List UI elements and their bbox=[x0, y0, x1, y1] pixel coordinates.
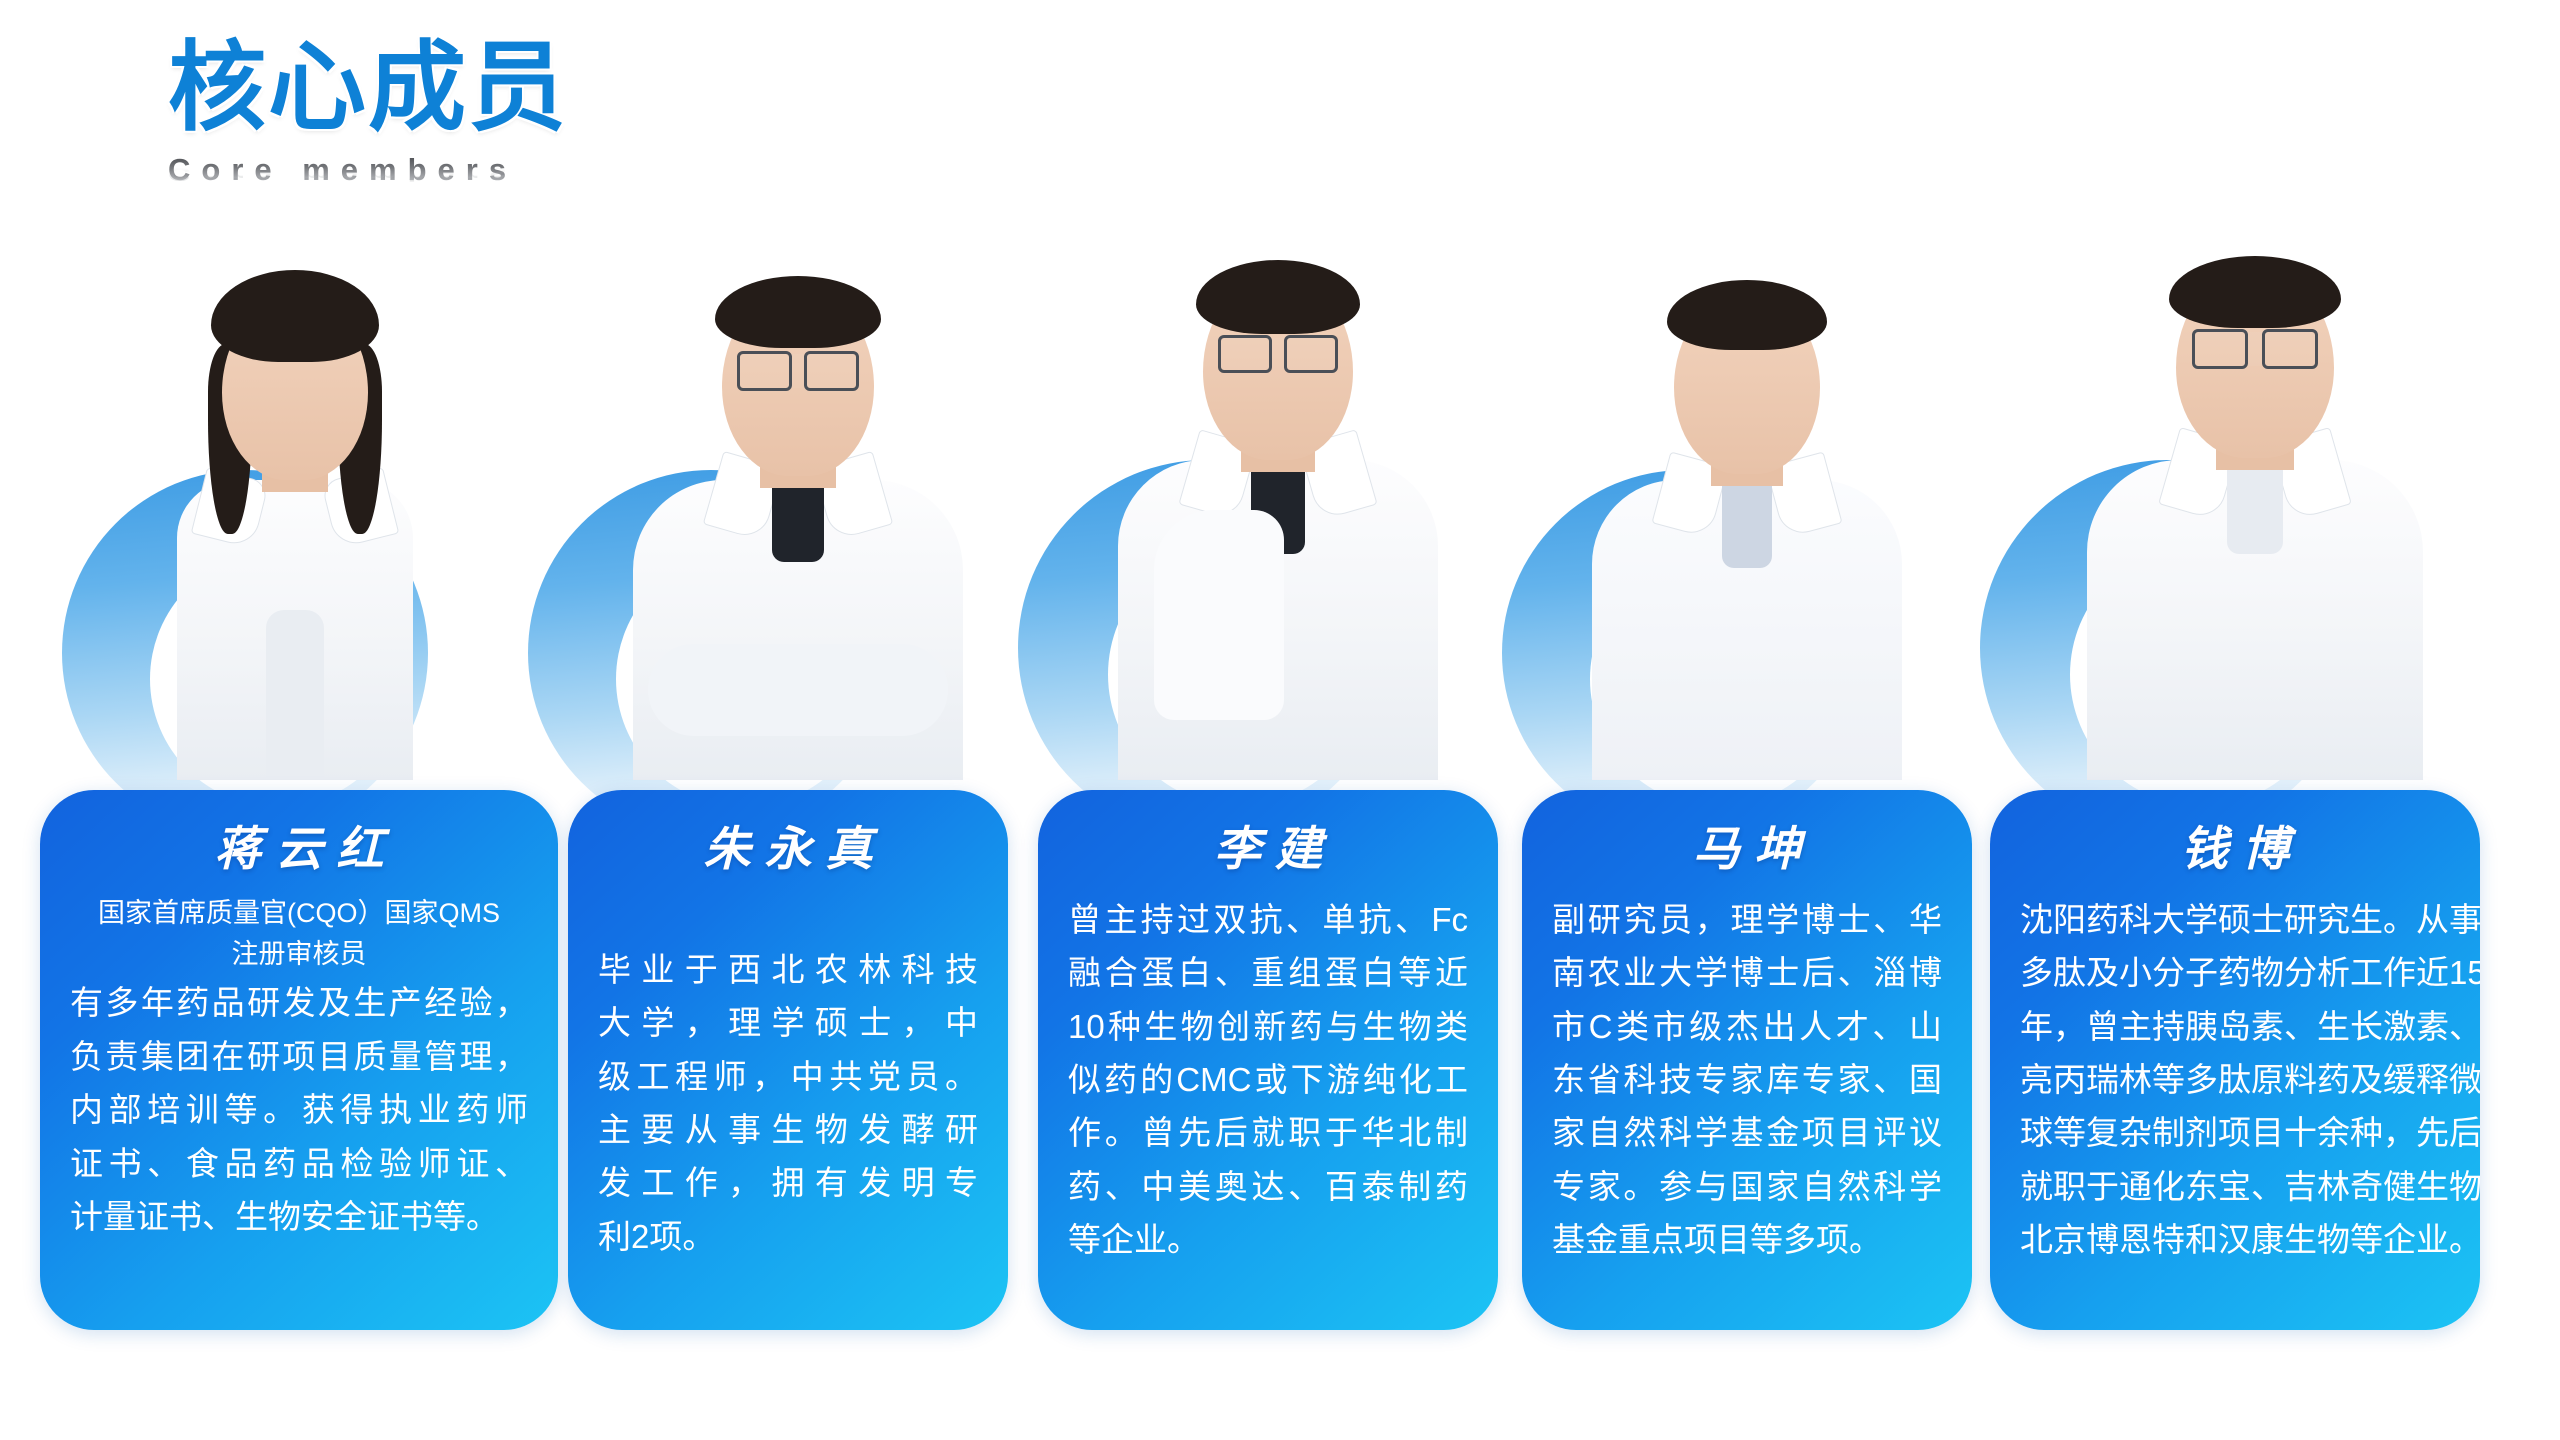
member-bio-3: 曾主持过双抗、单抗、Fc 融合蛋白、重组蛋白等近 10种生物创新药与生物类 似药… bbox=[1068, 893, 1468, 1267]
bio-line: 大学，理学硕士，中 bbox=[598, 996, 978, 1049]
bio-line: 融合蛋白、重组蛋白等近 bbox=[1068, 946, 1468, 999]
member-info-card-1[interactable]: 蒋云红 国家首席质量官(CQO）国家QMS 注册审核员 有多年药品研发及生产经验… bbox=[40, 790, 558, 1330]
bio-line: 毕业于西北农林科技 bbox=[598, 943, 978, 996]
member-card-1[interactable]: 蒋云红 国家首席质量官(CQO）国家QMS 注册审核员 有多年药品研发及生产经验… bbox=[40, 0, 540, 1440]
member-info-card-5[interactable]: 钱博 沈阳药科大学硕士研究生。从事 多肽及小分子药物分析工作近15 年，曾主持胰… bbox=[1990, 790, 2480, 1330]
bio-line: 副研究员，理学博士、华 bbox=[1552, 893, 1942, 946]
bio-line: 沈阳药科大学硕士研究生。从事 bbox=[2020, 893, 2450, 946]
member-photo-4 bbox=[1562, 280, 1932, 780]
member-name-4: 马坤 bbox=[1679, 824, 1815, 877]
bio-line: 注册审核员 bbox=[70, 934, 528, 976]
bio-line: 级工程师，中共党员。 bbox=[598, 1050, 978, 1103]
bio-line: 就职于通化东宝、吉林奇健生物、 bbox=[2020, 1160, 2450, 1213]
bio-line: 主要从事生物发酵研 bbox=[598, 1103, 978, 1156]
member-name-5: 钱博 bbox=[2167, 824, 2303, 877]
core-members-page: 核心成员 Core members Core members bbox=[0, 0, 2560, 1440]
bio-line: 市C类市级杰出人才、山 bbox=[1552, 1000, 1942, 1053]
bio-line: 多肽及小分子药物分析工作近15 bbox=[2020, 946, 2450, 999]
member-name-1: 蒋云红 bbox=[201, 824, 398, 877]
bio-line: 10种生物创新药与生物类 bbox=[1068, 1000, 1468, 1053]
bio-line: 家自然科学基金项目评议 bbox=[1552, 1106, 1942, 1159]
member-bio-1: 国家首席质量官(CQO）国家QMS 注册审核员 有多年药品研发及生产经验， 负责… bbox=[70, 893, 528, 1244]
member-info-card-3[interactable]: 李建 曾主持过双抗、单抗、Fc 融合蛋白、重组蛋白等近 10种生物创新药与生物类… bbox=[1038, 790, 1498, 1330]
bio-line: 北京博恩特和汉康生物等企业。 bbox=[2020, 1213, 2450, 1266]
member-name-3: 李建 bbox=[1200, 824, 1336, 877]
bio-line: 内部培训等。获得执业药师 bbox=[70, 1083, 528, 1136]
bio-line: 计量证书、生物安全证书等。 bbox=[70, 1190, 528, 1243]
bio-line: 药、中美奥达、百泰制药 bbox=[1068, 1160, 1468, 1213]
member-card-3[interactable]: 李建 曾主持过双抗、单抗、Fc 融合蛋白、重组蛋白等近 10种生物创新药与生物类… bbox=[1038, 0, 1498, 1440]
bio-line: 国家首席质量官(CQO）国家QMS bbox=[70, 893, 528, 935]
bio-line: 负责集团在研项目质量管理， bbox=[70, 1030, 528, 1083]
bio-line: 作。曾先后就职于华北制 bbox=[1068, 1106, 1468, 1159]
member-card-5[interactable]: 钱博 沈阳药科大学硕士研究生。从事 多肽及小分子药物分析工作近15 年，曾主持胰… bbox=[1990, 0, 2490, 1440]
member-bio-5: 沈阳药科大学硕士研究生。从事 多肽及小分子药物分析工作近15 年，曾主持胰岛素、… bbox=[2020, 893, 2450, 1267]
bio-line: 证书、食品药品检验师证、 bbox=[70, 1137, 528, 1190]
members-row: 蒋云红 国家首席质量官(CQO）国家QMS 注册审核员 有多年药品研发及生产经验… bbox=[0, 0, 2560, 1440]
member-card-4[interactable]: 马坤 副研究员，理学博士、华 南农业大学博士后、淄博 市C类市级杰出人才、山 东… bbox=[1522, 0, 1972, 1440]
bio-line: 曾主持过双抗、单抗、Fc bbox=[1068, 893, 1468, 946]
bio-line: 发工作，拥有发明专 bbox=[598, 1156, 978, 1209]
bio-line: 等企业。 bbox=[1068, 1213, 1468, 1266]
member-card-2[interactable]: 朱永真 毕业于西北农林科技 大学，理学硕士，中 级工程师，中共党员。 主要从事生… bbox=[568, 0, 1008, 1440]
bio-line: 专家。参与国家自然科学 bbox=[1552, 1160, 1942, 1213]
bio-line: 亮丙瑞林等多肽原料药及缓释微 bbox=[2020, 1053, 2450, 1106]
member-bio-4: 副研究员，理学博士、华 南农业大学博士后、淄博 市C类市级杰出人才、山 东省科技… bbox=[1552, 893, 1942, 1267]
member-photo-3 bbox=[1088, 260, 1468, 780]
member-name-2: 朱永真 bbox=[690, 824, 887, 877]
bio-line: 球等复杂制剂项目十余种，先后 bbox=[2020, 1106, 2450, 1159]
member-photo-1 bbox=[140, 290, 450, 780]
member-info-card-4[interactable]: 马坤 副研究员，理学博士、华 南农业大学博士后、淄博 市C类市级杰出人才、山 东… bbox=[1522, 790, 1972, 1330]
member-photo-2 bbox=[608, 270, 988, 780]
bio-line: 东省科技专家库专家、国 bbox=[1552, 1053, 1942, 1106]
member-info-card-2[interactable]: 朱永真 毕业于西北农林科技 大学，理学硕士，中 级工程师，中共党员。 主要从事生… bbox=[568, 790, 1008, 1330]
bio-line: 年，曾主持胰岛素、生长激素、 bbox=[2020, 1000, 2450, 1053]
bio-line: 似药的CMC或下游纯化工 bbox=[1068, 1053, 1468, 1106]
bio-line: 有多年药品研发及生产经验， bbox=[70, 976, 528, 1029]
member-photo-5 bbox=[2060, 260, 2450, 780]
bio-line: 南农业大学博士后、淄博 bbox=[1552, 946, 1942, 999]
member-bio-2: 毕业于西北农林科技 大学，理学硕士，中 级工程师，中共党员。 主要从事生物发酵研… bbox=[598, 943, 978, 1264]
bio-line: 基金重点项目等多项。 bbox=[1552, 1213, 1942, 1266]
bio-line: 利2项。 bbox=[598, 1210, 978, 1263]
